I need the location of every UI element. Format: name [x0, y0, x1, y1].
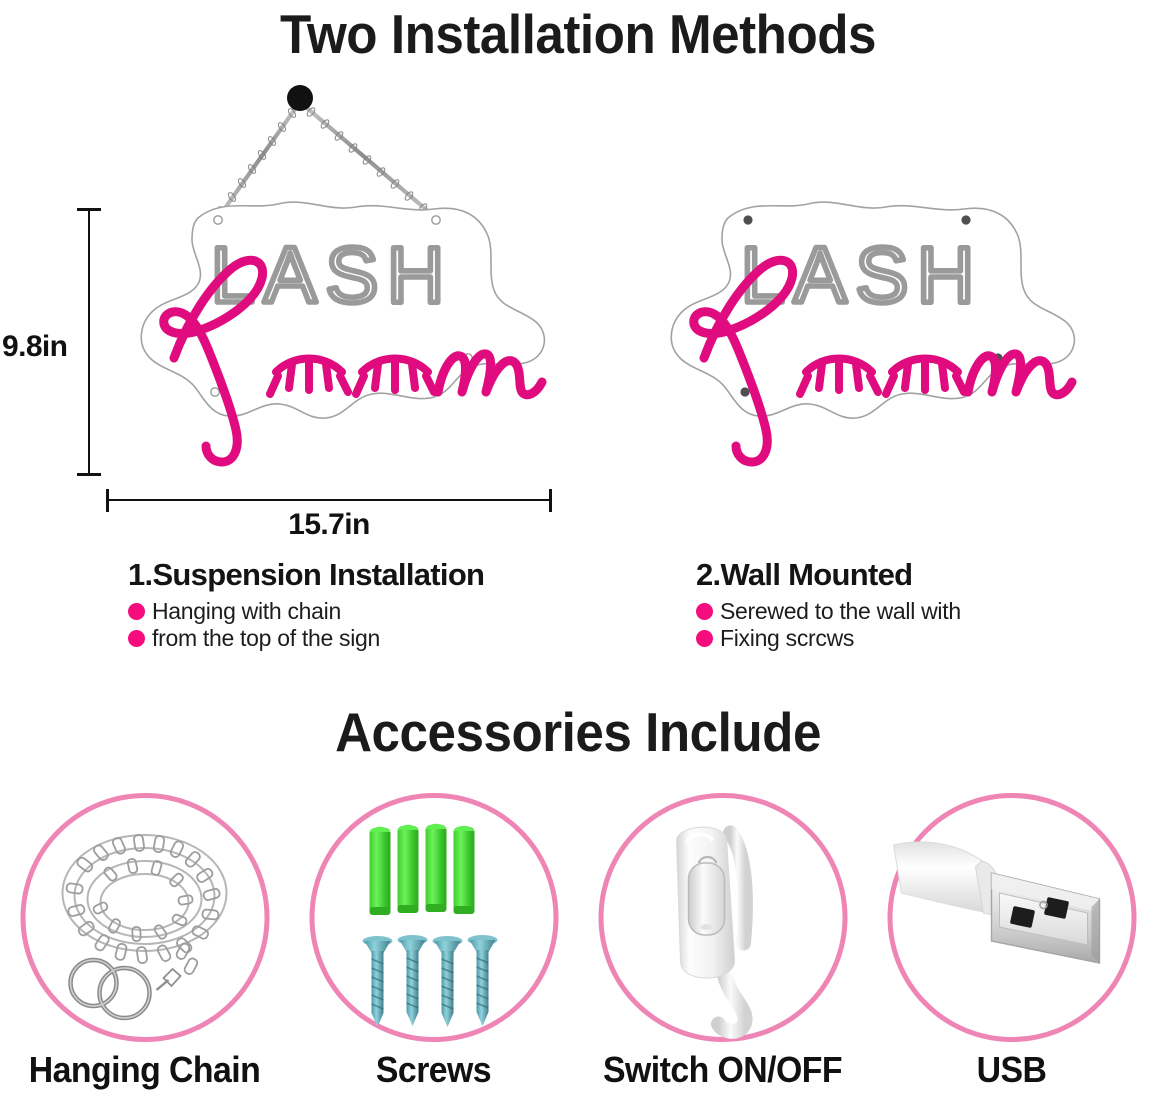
bullet-item: from the top of the sign [128, 625, 628, 652]
accessory-switch: Switch ON/OFF [578, 793, 867, 1120]
screws [362, 935, 497, 1027]
dimension-line-width [106, 499, 552, 501]
accessory-label: Switch ON/OFF [587, 1048, 859, 1092]
accessory-hanging-chain: Hanging Chain [0, 793, 289, 1120]
switch-icon [598, 793, 847, 1042]
dimension-label-width: 15.7in [106, 508, 552, 542]
hanging-chain-icon [20, 793, 269, 1042]
accessories-row: Hanging Chain [0, 793, 1156, 1120]
accessory-label: USB [876, 1048, 1148, 1092]
method-title: 1.Suspension Installation [128, 556, 628, 594]
method-title: 2.Wall Mounted [696, 556, 1156, 594]
accessory-usb: USB [867, 793, 1156, 1120]
bullet-dot-icon [128, 630, 145, 647]
hanging-chain-left [217, 102, 300, 218]
accessory-label: Screws [298, 1048, 570, 1092]
screws-icon [309, 793, 558, 1042]
accessory-label: Hanging Chain [9, 1048, 281, 1092]
accessory-screws: Screws [289, 793, 578, 1120]
sign-illustration-suspension: LASH [70, 70, 590, 500]
dimension-label-height: 9.8in [2, 330, 67, 364]
page-title-installation: Two Installation Methods [40, 2, 1115, 66]
bullet-item: Fixing scrcws [696, 625, 1156, 652]
wall-anchors [369, 824, 474, 915]
bullet-item: Hanging with chain [128, 598, 628, 625]
bullet-label: Serewed to the wall with [720, 598, 961, 625]
bullet-label: from the top of the sign [152, 625, 380, 652]
method-block-wall-mounted: 2.Wall Mounted Serewed to the wall with … [696, 556, 1156, 652]
bullet-dot-icon [696, 630, 713, 647]
bullet-label: Fixing scrcws [720, 625, 854, 652]
page-title-accessories: Accessories Include [40, 700, 1115, 764]
method-block-suspension: 1.Suspension Installation Hanging with c… [128, 556, 628, 652]
sign-illustration-wall: LASH [600, 70, 1120, 500]
hanging-chain-right [300, 102, 436, 218]
method-bullet-list: Hanging with chain from the top of the s… [128, 598, 628, 652]
wall-nail-icon [287, 85, 313, 111]
dimension-line-height [88, 208, 90, 476]
sign-preview-wall-mounted: LASH [600, 70, 1120, 500]
switch-rocker-dimple [700, 924, 712, 930]
method-bullet-list: Serewed to the wall with Fixing scrcws [696, 598, 1156, 652]
bullet-item: Serewed to the wall with [696, 598, 1156, 625]
bullet-dot-icon [128, 603, 145, 620]
usb-connector-icon [887, 793, 1136, 1042]
bullet-dot-icon [696, 603, 713, 620]
bullet-label: Hanging with chain [152, 598, 341, 625]
switch-cord [718, 975, 745, 1031]
sign-preview-suspension: LASH [70, 70, 590, 500]
